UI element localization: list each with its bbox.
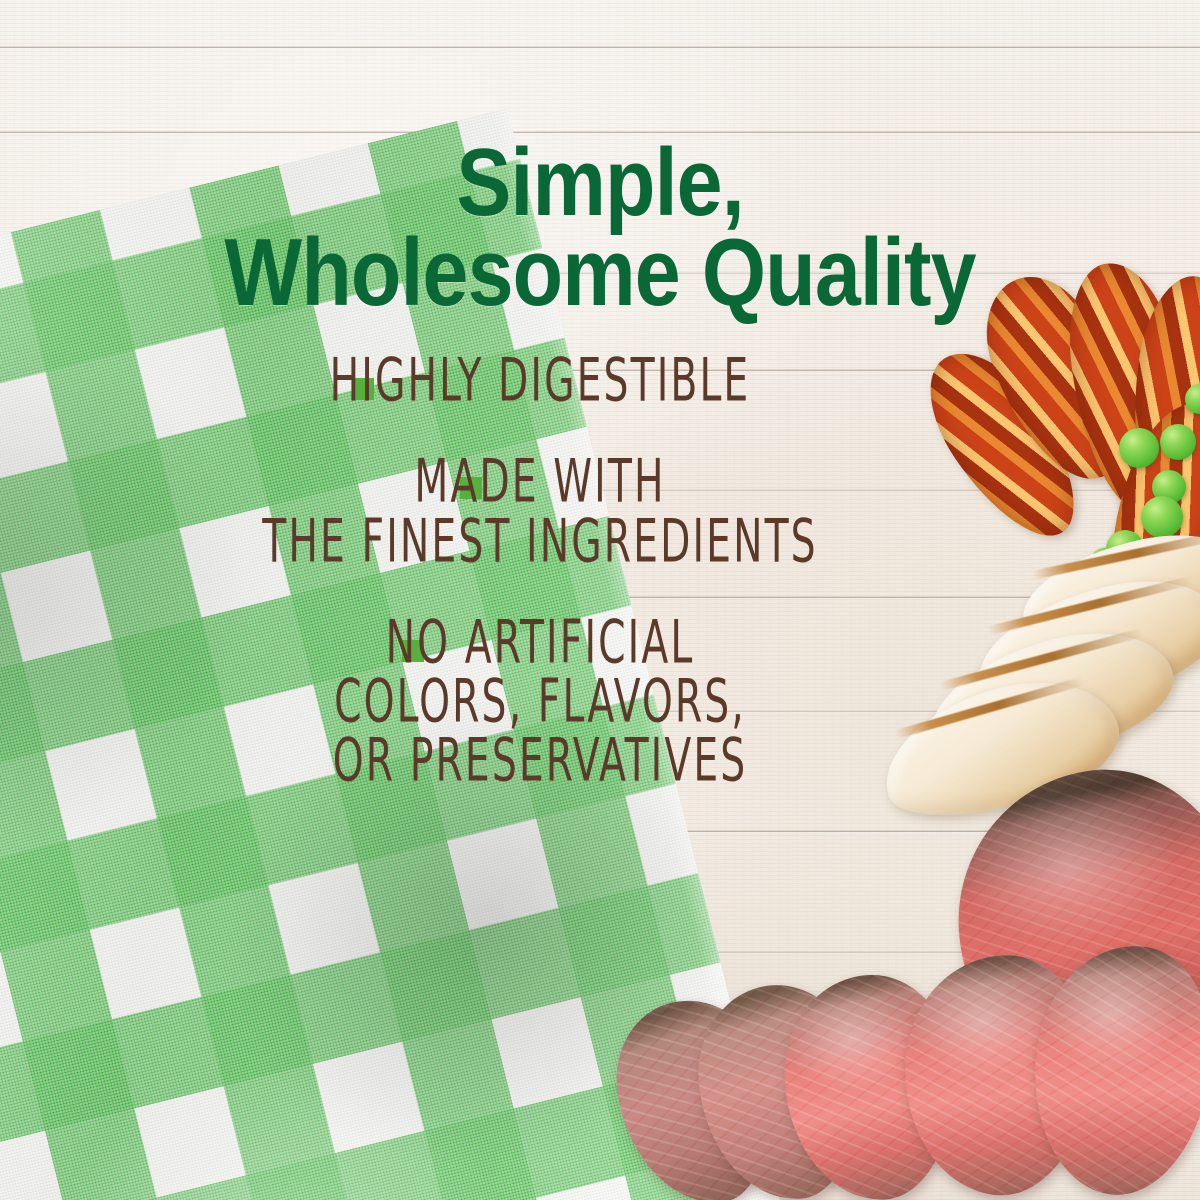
list-item: Highly Digestible (170, 352, 910, 411)
bullet-text-line: or Preservatives (229, 728, 851, 796)
headline-line-2: Wholesome Quality (84, 228, 1116, 317)
list-item: Made With the Finest Ingredients (170, 453, 910, 572)
bullet-text-line: Highly Digestible (229, 348, 851, 416)
bullet-text-line: Made With (229, 449, 851, 517)
bullet-text-line: the Finest Ingredients (229, 508, 851, 576)
plank-seam (0, 46, 1200, 49)
benefits-list: Highly Digestible Made With the Finest I… (170, 352, 910, 792)
poster-canvas: Simple, Wholesome Quality Highly Digesti… (0, 0, 1200, 1200)
page-title: Simple, Wholesome Quality (84, 138, 1116, 317)
headline-line-1: Simple, (84, 138, 1116, 227)
list-item: No Artificial Colors, Flavors, or Preser… (170, 614, 910, 792)
